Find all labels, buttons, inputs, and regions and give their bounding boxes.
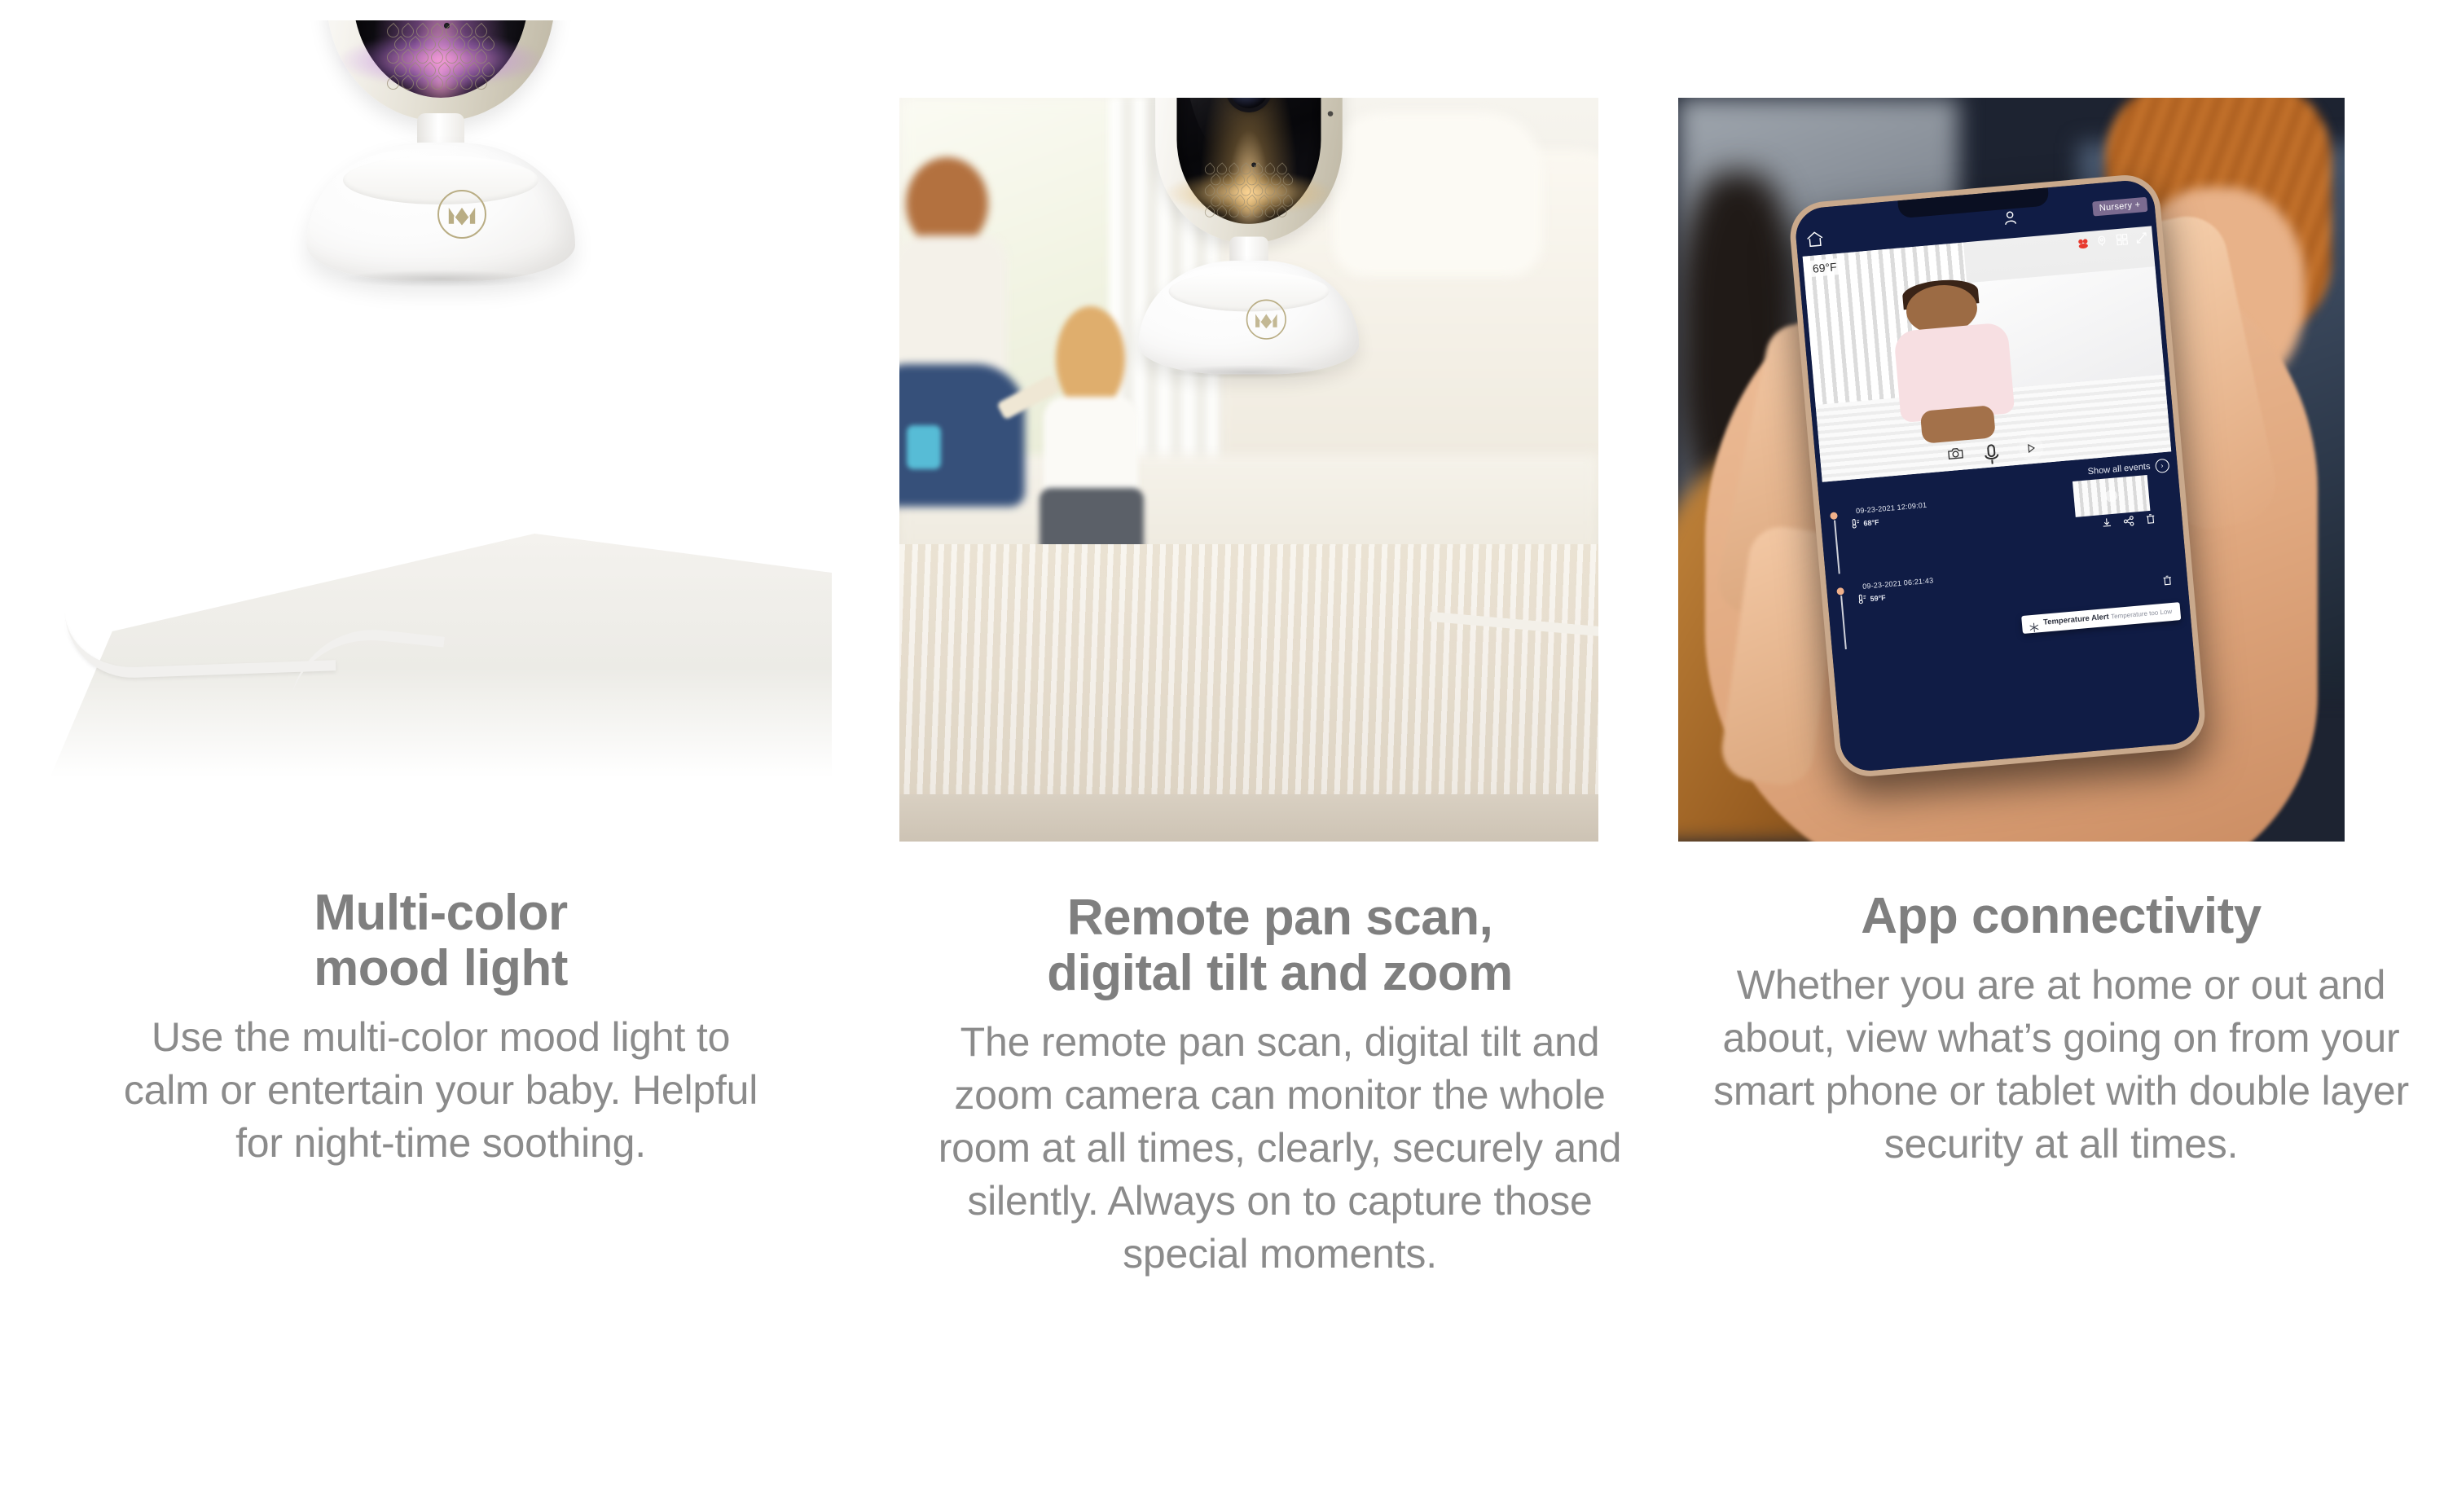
camera-base [306, 143, 575, 281]
glass-highlight [1176, 98, 1281, 165]
toy-block [907, 425, 942, 470]
alert-title: Temperature Alert [2042, 612, 2108, 626]
thermometer-icon [1849, 517, 1860, 528]
sofa-cushion [1333, 112, 1542, 276]
fullscreen-icon[interactable] [2134, 231, 2147, 244]
speaker-grille [387, 25, 495, 94]
people-icon[interactable] [2076, 236, 2089, 249]
side-button [1328, 111, 1334, 116]
baby-in-crib [1889, 279, 2022, 451]
baby-monitor-icon[interactable] [2095, 235, 2108, 248]
show-all-events-label: Show all events [2087, 461, 2151, 477]
caption-app-connectivity: App connectivity Whether you are at home… [1695, 889, 2428, 1171]
motorola-logo-icon [437, 190, 486, 239]
smartphone: Nursery + [1787, 172, 2208, 779]
feature-title-mood-light: Multi-color mood light [123, 886, 758, 996]
trash-icon[interactable] [2144, 512, 2156, 524]
baby-monitor-camera [1139, 261, 1360, 374]
base-ring [343, 156, 538, 204]
baby-legs [1919, 404, 1996, 443]
motorola-logo-icon [1246, 300, 1286, 340]
event-temperature: 68°F [1863, 517, 1879, 527]
download-icon[interactable] [2100, 516, 2112, 528]
camera-body [327, 20, 555, 121]
event-dot [1836, 587, 1844, 595]
feature-image-mood-light [50, 20, 832, 835]
snowflake-icon [2029, 621, 2040, 632]
baby-monitor-camera [306, 143, 575, 281]
base-ring [1169, 271, 1330, 311]
event-temperature: 59°F [1870, 593, 1886, 603]
play-icon[interactable] [2104, 489, 2117, 502]
temperature-alert-card[interactable]: Temperature Alert Temperature too Low [2021, 601, 2181, 633]
room-name: Nursery [2099, 200, 2133, 213]
live-temperature-badge: 69°F [1806, 257, 1843, 277]
power-cable [65, 603, 336, 679]
feature-column-mood-light: Multi-color mood light Use the multi-col… [0, 0, 881, 1170]
microphone-icon[interactable] [1982, 442, 2000, 460]
room-selector-badge[interactable]: Nursery + [2092, 196, 2147, 216]
feature-column-pan-tilt-zoom: Remote pan scan, digital tilt and zoom T… [881, 0, 1678, 1281]
title-line-2: digital tilt and zoom [1047, 945, 1513, 1001]
baby-monitor-app: Nursery + [1793, 178, 2201, 773]
feature-column-app-connectivity: Nursery + [1678, 0, 2444, 1171]
event-actions [2100, 512, 2156, 528]
wooden-table [899, 544, 1598, 842]
title-line-2: mood light [314, 940, 568, 996]
caption-pan-tilt-zoom: Remote pan scan, digital tilt and zoom T… [934, 890, 1626, 1281]
title-line-1: Multi-color [314, 885, 567, 941]
grid-view-icon[interactable] [2115, 233, 2128, 246]
alert-subtitle: Temperature too Low [2110, 607, 2172, 620]
chevron-right-icon[interactable]: › [2154, 458, 2169, 472]
video-overlay-icons [2076, 231, 2147, 249]
event-dot [1830, 511, 1838, 519]
event-thumbnail[interactable] [2072, 474, 2149, 516]
feature-grid-page: Multi-color mood light Use the multi-col… [0, 0, 2444, 1512]
hand-holding-phone-scene: Nursery + [1678, 98, 2345, 842]
event-list-item[interactable]: 09-23-2021 06:21:43 59°F Temperature [1835, 554, 2178, 584]
trash-icon[interactable] [2161, 574, 2173, 586]
camera-base [1139, 261, 1360, 374]
event-list-item[interactable]: 09-23-2021 12:09:01 68°F [1829, 478, 2171, 508]
feature-image-pan-tilt-zoom [899, 98, 1598, 842]
event-timestamp: 09-23-2021 12:09:01 [1855, 500, 1927, 515]
feature-columns: Multi-color mood light Use the multi-col… [0, 0, 2444, 1512]
feature-title-pan-tilt-zoom: Remote pan scan, digital tilt and zoom [934, 890, 1626, 1001]
feature-image-app-connectivity: Nursery + [1678, 98, 2345, 842]
event-timeline-line [1840, 595, 1847, 648]
event-timestamp: 09-23-2021 06:21:43 [1862, 575, 1933, 590]
play-button[interactable] [2017, 434, 2044, 461]
event-timeline-line [1834, 520, 1840, 574]
title-line-1: Remote pan scan, [1067, 890, 1493, 946]
feature-title-app-connectivity: App connectivity [1695, 889, 2428, 944]
camera-icon[interactable] [1946, 446, 1964, 464]
baby-dress [1893, 322, 2015, 423]
speaker-grille [1205, 165, 1293, 221]
feature-body-mood-light: Use the multi-color mood light to calm o… [123, 1011, 758, 1170]
baby-figure [1040, 306, 1145, 559]
share-icon[interactable] [2122, 515, 2134, 526]
caption-mood-light: Multi-color mood light Use the multi-col… [123, 886, 758, 1170]
thermometer-icon [1857, 593, 1867, 604]
user-icon[interactable] [2003, 209, 2018, 225]
add-room-plus-icon[interactable]: + [2134, 200, 2141, 210]
home-icon[interactable] [1805, 230, 1825, 248]
feature-body-pan-tilt-zoom: The remote pan scan, digital tilt and zo… [934, 1016, 1626, 1281]
live-video-feed[interactable]: 69°F [1802, 226, 2170, 481]
feature-body-app-connectivity: Whether you are at home or out and about… [1695, 959, 2428, 1171]
